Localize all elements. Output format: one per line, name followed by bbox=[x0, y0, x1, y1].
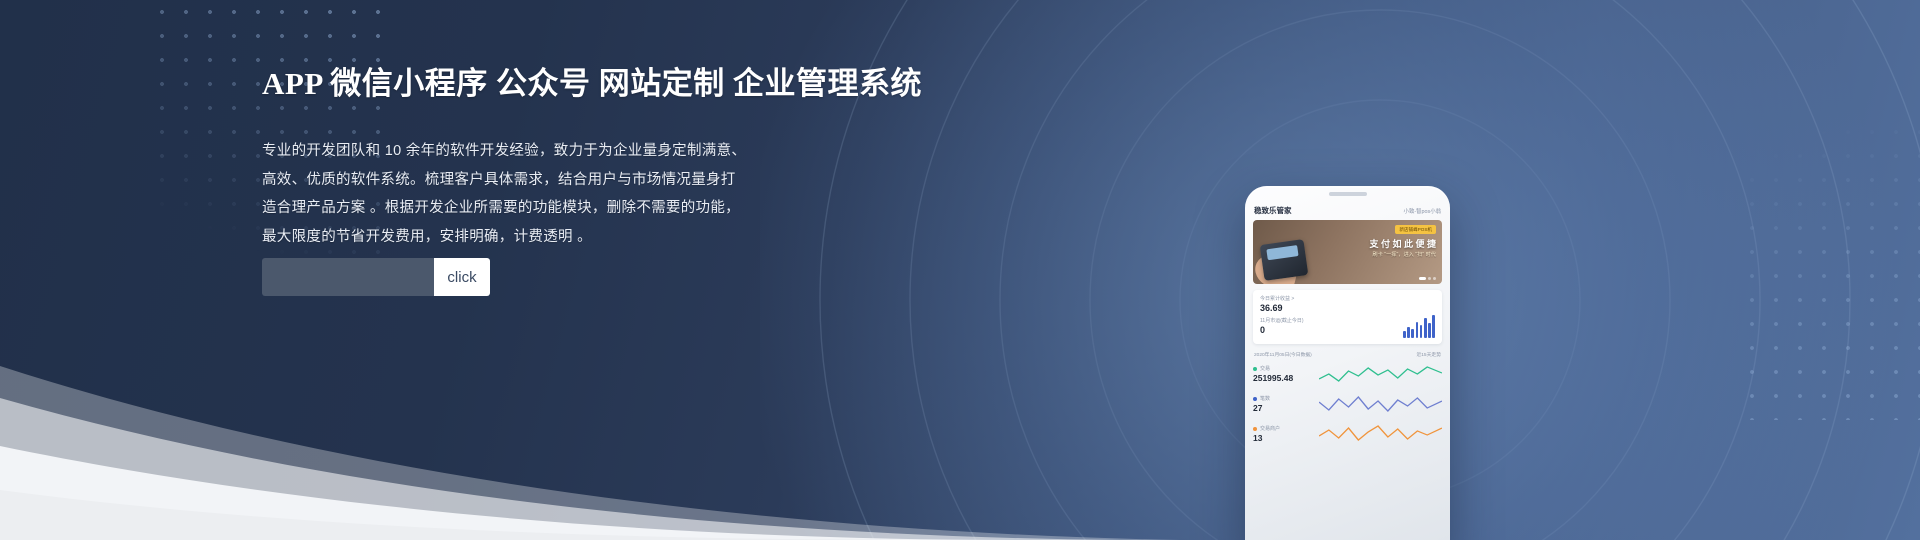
stat-label: 交易 bbox=[1260, 365, 1270, 372]
stat-left: 交易 251995.48 bbox=[1253, 365, 1319, 383]
app-navbar: 稳致乐管家 小致-智pos小翁 bbox=[1245, 201, 1450, 220]
hero-paragraph: 专业的开发团队和 10 余年的软件开发经验，致力于为企业量身定制满意、 高效、优… bbox=[262, 137, 1082, 251]
stat-value: 13 bbox=[1253, 433, 1319, 443]
carousel-dot-active[interactable] bbox=[1419, 277, 1426, 280]
sparkline-transactions bbox=[1319, 362, 1442, 386]
mini-bar-chart bbox=[1403, 314, 1435, 338]
summary-card[interactable]: 今日累计收益 > 36.69 11月市运(截止今日) 0 bbox=[1253, 290, 1442, 344]
stat-name: 交易商户 bbox=[1253, 425, 1319, 432]
sparkline-count bbox=[1319, 392, 1442, 416]
phone-mockup: 稳致乐管家 小致-智pos小翁 新店铺峰POS机 支 付 如 此 便 捷 刷卡 … bbox=[1245, 186, 1450, 540]
promo-subline: 刷卡 "一挥"，进入 "扫" 时代 bbox=[1372, 251, 1436, 258]
paragraph-line: 专业的开发团队和 10 余年的软件开发经验，致力于为企业量身定制满意、 bbox=[262, 137, 1082, 166]
hero-banner: APP 微信小程序 公众号 网站定制 企业管理系统 专业的开发团队和 10 余年… bbox=[0, 0, 1920, 540]
paragraph-line: 最大限度的节省开发费用，安排明确，计费透明 。 bbox=[262, 223, 1082, 252]
section-header-date: 2020年11月05日(今日数据) bbox=[1254, 351, 1312, 358]
stat-row: 笔数 27 bbox=[1253, 392, 1442, 416]
summary-value: 36.69 bbox=[1260, 303, 1435, 313]
stat-name: 笔数 bbox=[1253, 395, 1319, 402]
sparkline-merchants bbox=[1319, 422, 1442, 446]
summary-row: 今日累计收益 > 36.69 bbox=[1260, 295, 1435, 313]
cta-click-button[interactable]: click bbox=[434, 258, 490, 296]
stat-label: 笔数 bbox=[1260, 395, 1270, 402]
cta-input[interactable] bbox=[262, 258, 434, 296]
carousel-dot[interactable] bbox=[1428, 277, 1431, 280]
dot-pattern-right bbox=[1740, 120, 1920, 420]
stat-row: 交易商户 13 bbox=[1253, 422, 1442, 446]
carousel-dots[interactable] bbox=[1419, 277, 1436, 280]
pos-terminal-illustration bbox=[1260, 239, 1309, 281]
app-subtitle: 小致-智pos小翁 bbox=[1404, 207, 1441, 215]
stat-color-dot bbox=[1253, 367, 1257, 371]
stat-value: 27 bbox=[1253, 403, 1319, 413]
stat-name: 交易 bbox=[1253, 365, 1319, 372]
page-title: APP 微信小程序 公众号 网站定制 企业管理系统 bbox=[262, 58, 1082, 103]
promo-banner[interactable]: 新店铺峰POS机 支 付 如 此 便 捷 刷卡 "一挥"，进入 "扫" 时代 bbox=[1253, 220, 1442, 284]
carousel-dot[interactable] bbox=[1433, 277, 1436, 280]
app-title: 稳致乐管家 bbox=[1254, 205, 1292, 216]
summary-label: 今日累计收益 > bbox=[1260, 295, 1435, 302]
stat-left: 交易商户 13 bbox=[1253, 425, 1319, 443]
stat-color-dot bbox=[1253, 427, 1257, 431]
promo-headline: 支 付 如 此 便 捷 bbox=[1369, 237, 1436, 250]
section-header: 2020年11月05日(今日数据) 近15天走势 bbox=[1254, 351, 1441, 358]
app-body: 新店铺峰POS机 支 付 如 此 便 捷 刷卡 "一挥"，进入 "扫" 时代 今… bbox=[1245, 220, 1450, 446]
stat-label: 交易商户 bbox=[1260, 425, 1280, 432]
paragraph-line: 高效、优质的软件系统。梳理客户具体需求，结合用户与市场情况量身打 bbox=[262, 166, 1082, 195]
promo-badge: 新店铺峰POS机 bbox=[1395, 225, 1436, 234]
section-header-range: 近15天走势 bbox=[1416, 351, 1441, 358]
hero-copy: APP 微信小程序 公众号 网站定制 企业管理系统 专业的开发团队和 10 余年… bbox=[262, 58, 1082, 251]
phone-frame: 稳致乐管家 小致-智pos小翁 新店铺峰POS机 支 付 如 此 便 捷 刷卡 … bbox=[1245, 186, 1450, 540]
phone-notch bbox=[1329, 192, 1367, 196]
stat-row: 交易 251995.48 bbox=[1253, 362, 1442, 386]
stat-value: 251995.48 bbox=[1253, 373, 1319, 383]
stat-left: 笔数 27 bbox=[1253, 395, 1319, 413]
cta-group: click bbox=[262, 258, 490, 296]
phone-status-bar bbox=[1245, 186, 1450, 201]
stat-color-dot bbox=[1253, 397, 1257, 401]
paragraph-line: 造合理产品方案 。根据开发企业所需要的功能模块，删除不需要的功能， bbox=[262, 194, 1082, 223]
